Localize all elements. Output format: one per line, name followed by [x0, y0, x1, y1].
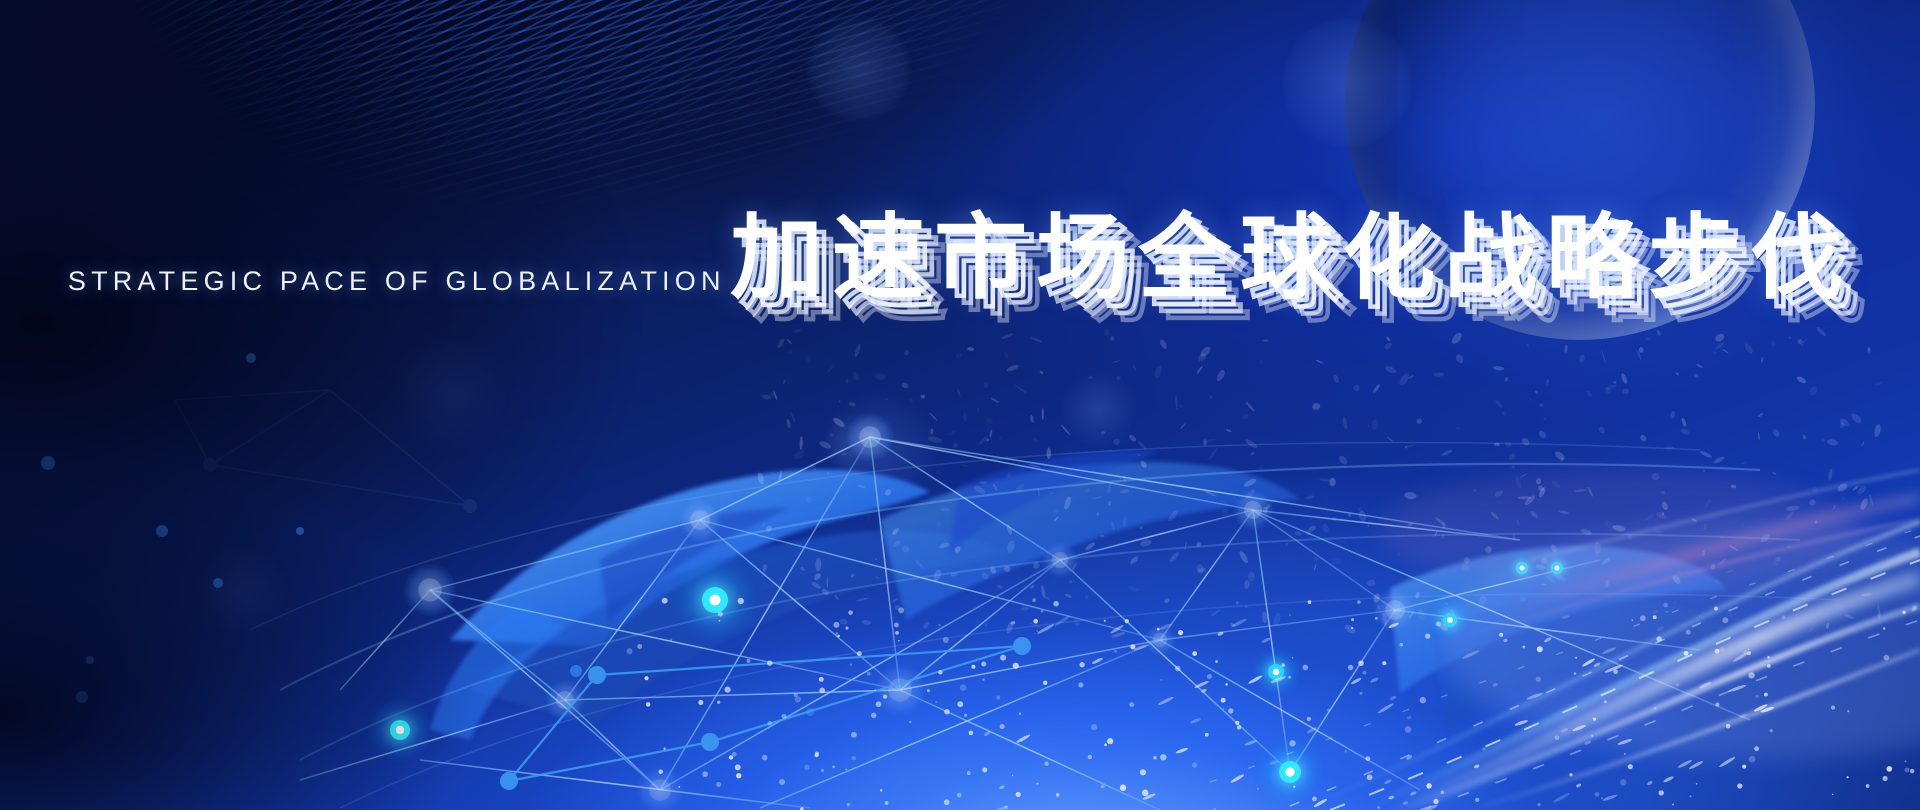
constellation-polygon-faint	[175, 390, 477, 513]
banner-root: STRATEGIC PACE OF GLOBALIZATION 加速市场全球化战…	[0, 0, 1920, 810]
scene-vector-layer	[0, 0, 1920, 810]
